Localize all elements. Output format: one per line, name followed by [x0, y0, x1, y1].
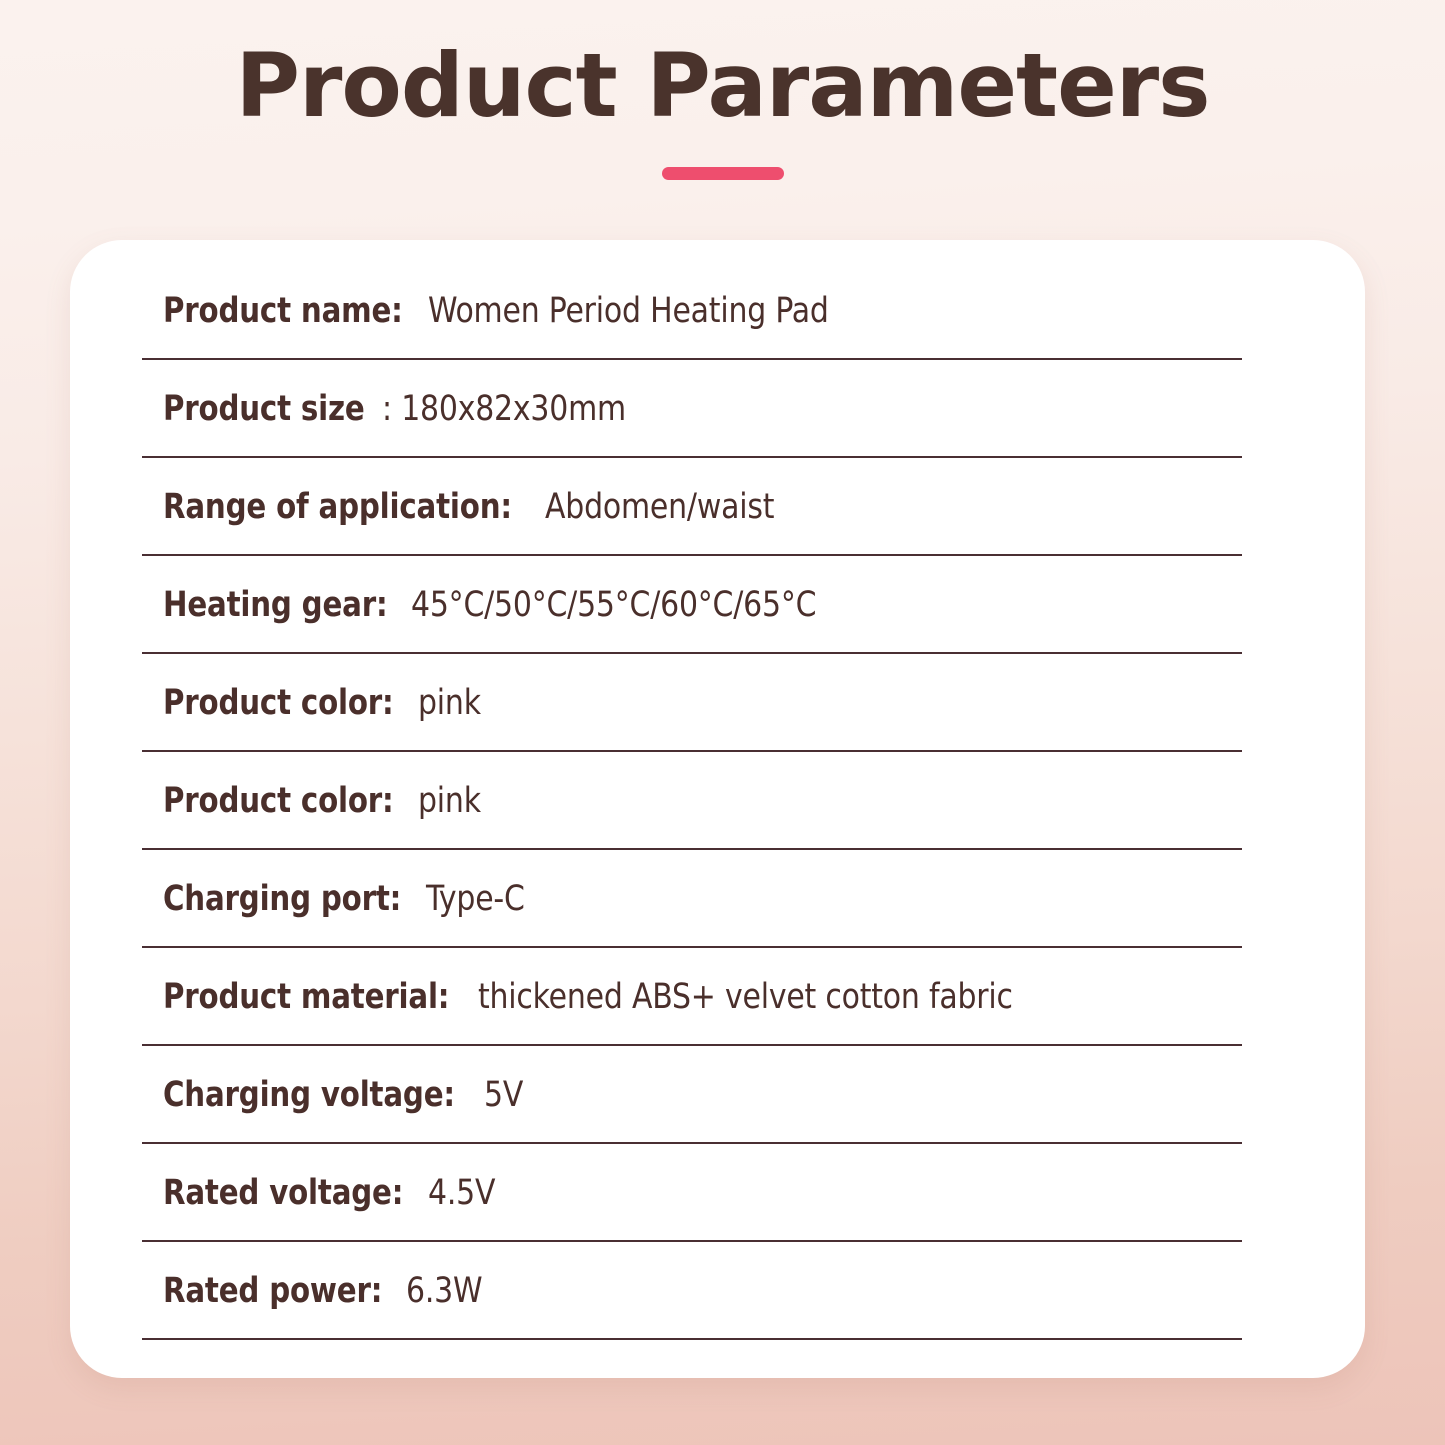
table-row: Heating gear:45°C/50°C/55°C/60°C/65°C	[142, 556, 1242, 654]
table-row: Product color:pink	[142, 752, 1242, 850]
spec-value: 4.5V	[428, 1173, 495, 1213]
spec-value: Type-C	[426, 879, 525, 919]
spec-label: Product material:	[163, 977, 449, 1017]
spec-label: Heating gear:	[163, 585, 388, 625]
spec-value: 45°C/50°C/55°C/60°C/65°C	[411, 585, 816, 625]
spec-label: Charging port:	[163, 879, 401, 919]
table-row: Product name:Women Period Heating Pad	[142, 262, 1242, 360]
spec-value: Women Period Heating Pad	[428, 291, 829, 331]
table-row: Charging port:Type-C	[142, 850, 1242, 948]
table-row: Range of application:Abdomen/waist	[142, 458, 1242, 556]
title-accent-wrap	[0, 166, 1445, 180]
spec-value: pink	[418, 781, 481, 821]
spec-card: Product name:Women Period Heating PadPro…	[70, 240, 1365, 1378]
spec-label: Product name:	[163, 291, 403, 331]
table-row: Charging voltage:5V	[142, 1046, 1242, 1144]
table-row: Rated voltage:4.5V	[142, 1144, 1242, 1242]
page-header: Product Parameters	[0, 0, 1445, 180]
spec-label: Product color:	[163, 683, 394, 723]
spec-label: Rated voltage:	[163, 1173, 403, 1213]
spec-label: Product color:	[163, 781, 394, 821]
spec-label: Rated power:	[163, 1271, 382, 1311]
spec-value: Abdomen/waist	[545, 487, 774, 527]
table-row: Product material:thickened ABS+ velvet c…	[142, 948, 1242, 1046]
row-divider	[142, 1338, 1242, 1340]
spec-label: Range of application:	[163, 487, 512, 527]
spec-value: pink	[418, 683, 481, 723]
spec-value: thickened ABS+ velvet cotton fabric	[478, 977, 1013, 1017]
product-parameters-page: Product Parameters Product name:Women Pe…	[0, 0, 1445, 1445]
spec-table: Product name:Women Period Heating PadPro…	[142, 262, 1242, 1340]
table-row: Rated power:6.3W	[142, 1242, 1242, 1340]
table-row: Product size: 180x82x30mm	[142, 360, 1242, 458]
title-accent-bar	[662, 167, 784, 180]
spec-value: : 180x82x30mm	[382, 389, 626, 429]
spec-value: 6.3W	[406, 1271, 482, 1311]
table-row: Product color:pink	[142, 654, 1242, 752]
spec-value: 5V	[484, 1075, 523, 1115]
spec-label: Product size	[163, 389, 365, 429]
page-title: Product Parameters	[0, 0, 1445, 130]
spec-label: Charging voltage:	[163, 1075, 455, 1115]
